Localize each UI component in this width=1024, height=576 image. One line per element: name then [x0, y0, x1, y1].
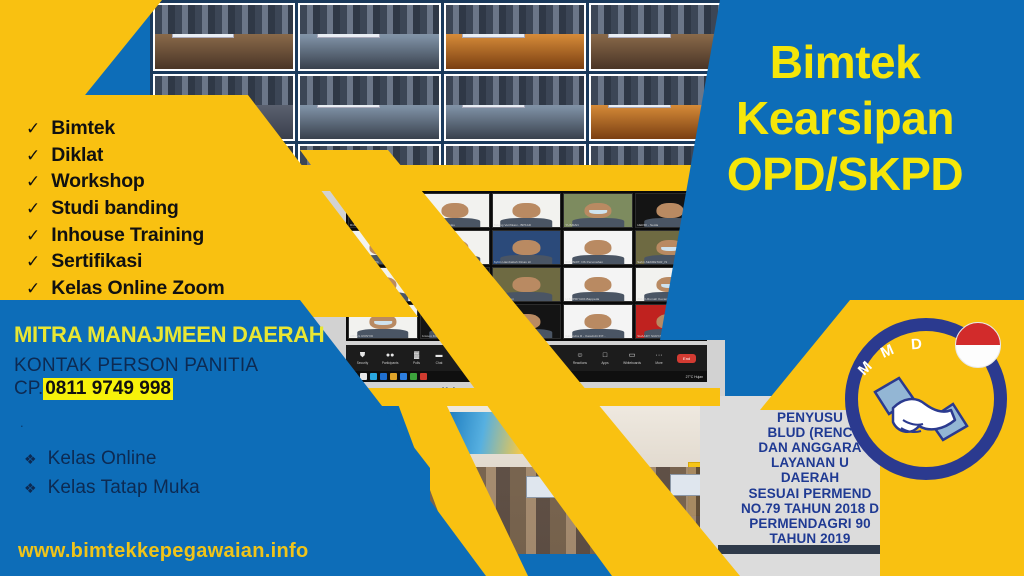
check-icon: ✓	[26, 200, 40, 217]
participant-face	[585, 314, 612, 330]
logo-letter: D	[910, 336, 922, 354]
checklist-label: Sertifikasi	[51, 251, 142, 272]
more-button[interactable]: ···More	[655, 352, 664, 365]
participant-face	[513, 240, 540, 256]
checklist-label: Bimtek	[51, 118, 115, 139]
collage-photo-6	[298, 74, 440, 142]
phone-number[interactable]: 0811 9749 998	[43, 378, 173, 400]
class-format-list: ❖Kelas Online❖Kelas Tatap Muka	[24, 448, 200, 506]
face-mask	[589, 210, 607, 215]
contact-label: KONTAK PERSON PANITIA	[14, 355, 258, 377]
logo-letter: M	[878, 341, 896, 362]
title-line-3: OPD/SKPD	[690, 146, 1000, 202]
apps-icon: □	[601, 352, 610, 360]
class-format-label: Kelas Tatap Muka	[48, 477, 200, 499]
taskbar-icon	[380, 373, 387, 380]
check-icon: ✓	[26, 227, 40, 244]
yellow-strip-top	[262, 165, 732, 191]
taskbar-clock: 27°C Hujan	[686, 375, 703, 379]
whiteboards-icon: ▭	[628, 352, 637, 360]
participant-face	[585, 277, 612, 293]
checklist-item-5: ✓Sertifikasi	[26, 251, 286, 272]
polls-label: Polls	[413, 361, 420, 365]
security-icon: ⛊	[358, 352, 367, 360]
collage-photo-7	[444, 74, 586, 142]
participant-name: YUSMAN	[565, 223, 578, 227]
chat-button[interactable]: ▬Chat	[435, 352, 444, 365]
diamond-bullet-icon: ❖	[24, 452, 37, 466]
brand-name: MITRA MANAJMEEN DAERAH	[14, 322, 324, 348]
reactions-icon: ☺	[575, 352, 584, 360]
end-meeting-button[interactable]: End	[677, 354, 696, 363]
participant-tile-8[interactable]: IDA PERT, NS Perumahan	[563, 230, 633, 265]
participant-name: IDA PERT, NS Perumahan	[565, 260, 603, 264]
participant-name: Bidang Verifikasi - BPKAD	[494, 223, 532, 227]
page-title: Bimtek Kearsipan OPD/SKPD	[690, 34, 1000, 202]
mmd-logo: M M D	[845, 318, 1007, 480]
checklist-label: Workshop	[51, 171, 144, 192]
participant-face	[441, 203, 468, 219]
more-label: More	[655, 361, 662, 365]
diamond-bullet-icon: ❖	[24, 481, 37, 495]
participants-label: Participants	[382, 361, 399, 365]
participants-button[interactable]: ●●Participants	[382, 352, 399, 365]
check-icon: ✓	[26, 253, 40, 270]
participants-icon: ●●	[386, 352, 395, 360]
phone-line: CP. 0811 9749 998	[14, 378, 173, 400]
participant-tile-2[interactable]: Bidang Verifikasi - BPKAD	[492, 193, 562, 228]
chat-icon: ▬	[435, 352, 444, 360]
participant-name: H.SUPRIYADI-Bappeda	[565, 297, 599, 301]
face-mask	[374, 321, 392, 326]
participant-body	[573, 218, 625, 227]
checklist-item-1: ✓Diklat	[26, 145, 286, 166]
whiteboards-label: Whiteboards	[623, 361, 641, 365]
checklist-label: Diklat	[51, 145, 103, 166]
polls-button[interactable]: ▓Polls	[412, 352, 421, 365]
participant-name: Sahri-SEKRETAR_IS	[637, 260, 667, 264]
taskbar-icon	[410, 373, 417, 380]
title-line-2: Kearsipan	[690, 90, 1000, 146]
apps-label: Apps	[601, 361, 608, 365]
participant-face	[585, 240, 612, 256]
participant-name: HERDI - Setda	[637, 223, 658, 227]
participant-tile-13[interactable]: H.SUPRIYADI-Bappeda	[563, 267, 633, 302]
polls-icon: ▓	[412, 352, 421, 360]
slide-footer-bar	[718, 545, 883, 554]
security-button[interactable]: ⛊Security	[357, 352, 369, 365]
participant-name: ABDUL ROSYID	[350, 334, 373, 338]
website-url[interactable]: www.bimtekkepegawaian.info	[18, 540, 308, 563]
class-format-item-1: ❖Kelas Tatap Muka	[24, 477, 200, 499]
taskbar-icon	[420, 373, 427, 380]
check-icon: ✓	[26, 147, 40, 164]
security-label: Security	[357, 361, 369, 365]
spacer-dot: .	[20, 415, 24, 430]
participant-face	[657, 203, 684, 219]
participant-tile-18[interactable]: Kasandra R - Kasubdit INT...	[563, 304, 633, 339]
more-icon: ···	[655, 352, 664, 360]
checklist-label: Inhouse Training	[51, 225, 204, 246]
checklist-item-2: ✓Workshop	[26, 171, 286, 192]
reactions-button[interactable]: ☺Reactions	[573, 352, 587, 365]
poster-canvas: Ridwan-Dinas PerhubungaRismawati BPS Mal…	[0, 0, 1024, 576]
taskbar-icon	[390, 373, 397, 380]
whiteboards-button[interactable]: ▭Whiteboards	[623, 352, 641, 365]
participant-face	[513, 203, 540, 219]
participant-name: Ayhin Hambaliah Dinas Lh	[494, 260, 532, 264]
title-line-1: Bimtek	[690, 34, 1000, 90]
chat-label: Chat	[436, 361, 443, 365]
collage-photo-1	[298, 3, 440, 71]
check-icon: ✓	[26, 280, 40, 297]
checklist-label: Kelas Online Zoom	[51, 278, 224, 299]
services-checklist: ✓Bimtek✓Diklat✓Workshop✓Studi banding✓In…	[26, 118, 286, 305]
checklist-item-4: ✓Inhouse Training	[26, 225, 286, 246]
checklist-item-0: ✓Bimtek	[26, 118, 286, 139]
checklist-item-6: ✓Kelas Online Zoom	[26, 278, 286, 299]
taskbar-icon	[370, 373, 377, 380]
apps-button[interactable]: □Apps	[601, 352, 610, 365]
cp-prefix: CP.	[14, 378, 43, 400]
participant-tile-7[interactable]: Ayhin Hambaliah Dinas Lh	[492, 230, 562, 265]
check-icon: ✓	[26, 173, 40, 190]
indonesia-flag-icon	[955, 322, 1001, 368]
checklist-item-3: ✓Studi banding	[26, 198, 286, 219]
reactions-label: Reactions	[573, 361, 587, 365]
collage-photo-0	[153, 3, 295, 71]
check-icon: ✓	[26, 120, 40, 137]
checklist-label: Studi banding	[51, 198, 178, 219]
class-format-item-0: ❖Kelas Online	[24, 448, 200, 470]
participant-face	[513, 277, 540, 293]
collage-photo-2	[444, 3, 586, 71]
participant-tile-3[interactable]: YUSMAN	[563, 193, 633, 228]
taskbar-icon	[400, 373, 407, 380]
participant-name: Kasandra R - Kasubdit INT...	[565, 334, 606, 338]
handshake-icon	[869, 370, 973, 448]
class-format-label: Kelas Online	[48, 448, 157, 470]
